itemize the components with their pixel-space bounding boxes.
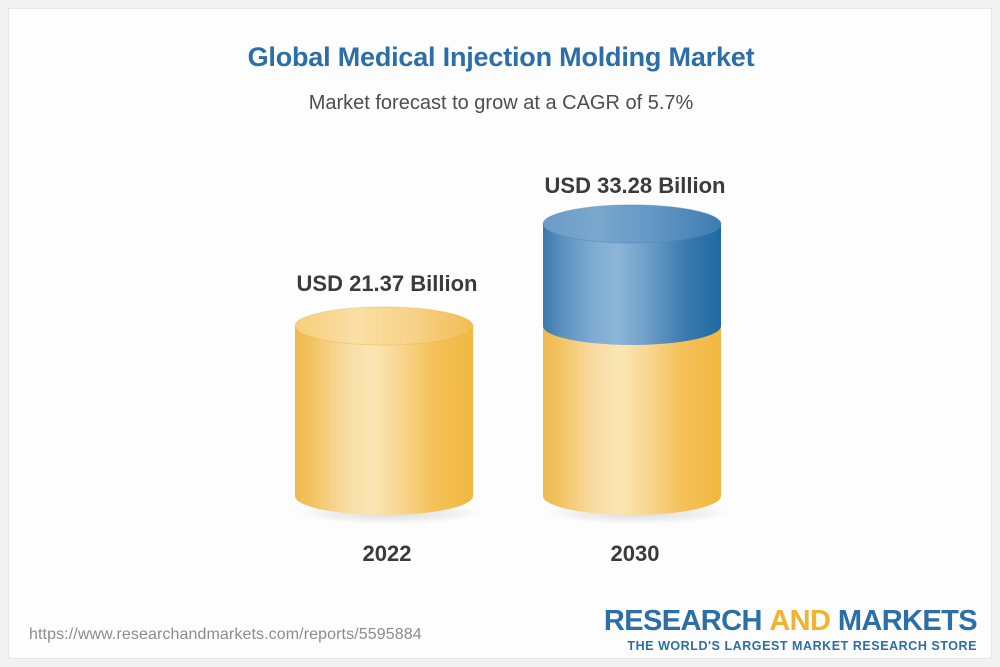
infographic-card: Global Medical Injection Molding Market … xyxy=(8,8,992,659)
chart-plot-area: USD 21.37 Billion xyxy=(9,9,992,659)
brand-logo[interactable]: RESEARCH AND MARKETS THE WORLD'S LARGEST… xyxy=(604,606,977,653)
logo-tagline: THE WORLD'S LARGEST MARKET RESEARCH STOR… xyxy=(604,639,977,653)
bar-body-2022 xyxy=(295,326,473,515)
bar-cylinder-2030 xyxy=(539,204,725,526)
bar-value-label-2030: USD 33.28 Billion xyxy=(475,173,795,199)
bar-value-label-2022: USD 21.37 Billion xyxy=(227,271,547,297)
bar-cylinder-2022 xyxy=(291,306,477,526)
logo-word-research: RESEARCH xyxy=(604,605,762,637)
logo-word-and: AND xyxy=(769,605,830,637)
source-url[interactable]: https://www.researchandmarkets.com/repor… xyxy=(29,626,422,644)
logo-word-markets: MARKETS xyxy=(838,605,977,637)
bar-category-label-2030: 2030 xyxy=(475,541,795,567)
logo-wordmark: RESEARCH AND MARKETS xyxy=(604,606,977,636)
